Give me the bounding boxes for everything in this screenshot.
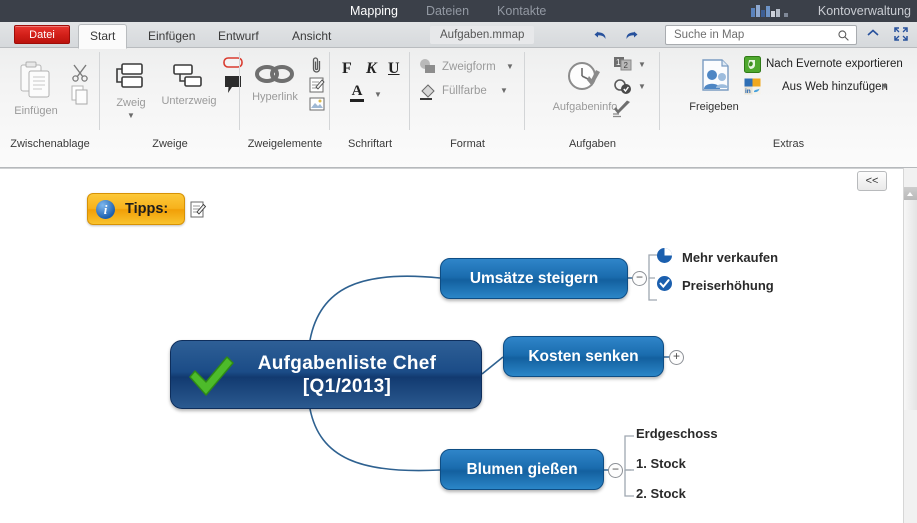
add-from-web-label[interactable]: Aus Web hinzufügen bbox=[782, 81, 888, 93]
toggle-blumen-glyph: − bbox=[612, 462, 619, 476]
progress-dropdown-icon[interactable]: ▼ bbox=[638, 82, 646, 91]
account-management-link[interactable]: Kontoverwaltung bbox=[818, 0, 911, 22]
search-input[interactable] bbox=[672, 28, 837, 42]
svg-text:in: in bbox=[745, 88, 751, 95]
subbranch-icon bbox=[170, 62, 208, 90]
share-icon bbox=[692, 58, 736, 96]
ribbon-group-branches: Zweig ▼ Unterzweig Zweige bbox=[100, 48, 240, 152]
subbranch-button[interactable]: Unterzweig bbox=[158, 62, 220, 107]
branch-dropdown-icon[interactable]: ▼ bbox=[127, 111, 135, 120]
group-label-branches: Zweige bbox=[100, 138, 240, 150]
scroll-up-button[interactable] bbox=[904, 187, 917, 200]
share-label: Freigeben bbox=[678, 101, 750, 113]
document-name[interactable]: Aufgaben.mmap bbox=[430, 26, 534, 44]
ribbon-body: Einfügen Zwischenablage bbox=[0, 48, 917, 152]
hyperlink-label: Hyperlink bbox=[242, 91, 308, 103]
task-info-icon bbox=[562, 58, 608, 96]
toggle-kosten[interactable]: + bbox=[669, 350, 684, 365]
copy-icon[interactable] bbox=[70, 84, 90, 111]
branch-node-blumen[interactable]: Blumen gießen bbox=[440, 449, 604, 490]
leaf-erdgeschoss[interactable]: Erdgeschoss bbox=[636, 426, 718, 441]
group-label-tasks: Aufgaben bbox=[525, 138, 660, 150]
task-complete-icon[interactable] bbox=[611, 100, 633, 123]
branch-node-kosten[interactable]: Kosten senken bbox=[503, 336, 664, 377]
priority-icon[interactable]: 12 bbox=[613, 56, 633, 77]
fullscreen-icon[interactable] bbox=[892, 25, 910, 43]
ribbon: Datei Start Einfügen Entwurf Ansicht Auf… bbox=[0, 22, 917, 168]
ribbon-tab-row: Datei Start Einfügen Entwurf Ansicht Auf… bbox=[0, 22, 917, 48]
evernote-icon[interactable] bbox=[744, 56, 761, 78]
fill-color-dropdown-icon[interactable]: ▼ bbox=[500, 86, 508, 95]
ribbon-group-format: Zweigform ▼ Füllfarbe ▼ Format bbox=[410, 48, 525, 152]
group-label-extras: Extras bbox=[660, 138, 917, 150]
branch-shape-dropdown-icon[interactable]: ▼ bbox=[506, 62, 514, 71]
font-color-dropdown-icon[interactable]: ▼ bbox=[374, 90, 382, 99]
branch-shape-label[interactable]: Zweigform bbox=[442, 61, 496, 73]
collapse-panel-button[interactable]: << bbox=[857, 171, 887, 191]
underline-button[interactable]: U bbox=[388, 60, 400, 78]
search-box[interactable] bbox=[665, 25, 857, 45]
tab-entwurf[interactable]: Entwurf bbox=[207, 24, 270, 48]
central-node-line2: [Q1/2013] bbox=[258, 375, 437, 398]
group-label-font: Schriftart bbox=[330, 138, 410, 150]
paste-label: Einfügen bbox=[8, 105, 64, 117]
redo-icon[interactable] bbox=[622, 27, 640, 43]
share-button[interactable]: Freigeben bbox=[678, 58, 750, 113]
font-color-letter: A bbox=[350, 84, 364, 98]
add-from-web-icon[interactable]: in bbox=[744, 78, 761, 100]
tab-datei[interactable]: Datei bbox=[14, 25, 70, 44]
export-evernote-label[interactable]: Nach Evernote exportieren bbox=[766, 58, 903, 70]
subbranch-label: Unterzweig bbox=[158, 95, 220, 107]
progress-icon[interactable] bbox=[613, 78, 633, 101]
font-color-button[interactable]: A bbox=[350, 84, 364, 102]
branch-icon bbox=[113, 60, 149, 92]
mindmap-canvas[interactable]: i Tipps: Aufgabenliste Chef [Q1/2013] Um… bbox=[0, 168, 903, 523]
paste-icon bbox=[17, 60, 55, 100]
undo-icon[interactable] bbox=[592, 27, 610, 43]
toggle-umsaetze[interactable]: − bbox=[632, 271, 647, 286]
search-icon bbox=[837, 29, 850, 42]
info-icon: i bbox=[96, 200, 115, 219]
central-node[interactable]: Aufgabenliste Chef [Q1/2013] bbox=[170, 340, 482, 409]
italic-button[interactable]: K bbox=[366, 60, 377, 78]
bold-button[interactable]: F bbox=[342, 60, 352, 78]
tab-einfuegen[interactable]: Einfügen bbox=[137, 24, 206, 48]
group-label-clipboard: Zwischenablage bbox=[0, 138, 100, 150]
branch-node-blumen-label: Blumen gießen bbox=[466, 461, 577, 479]
leaf-1-stock[interactable]: 1. Stock bbox=[636, 456, 686, 471]
svg-text:2: 2 bbox=[624, 61, 629, 70]
topnav-item-mapping[interactable]: Mapping bbox=[350, 0, 398, 22]
leaf-mehr-verkaufen[interactable]: Mehr verkaufen bbox=[682, 250, 778, 265]
branch-shape-icon bbox=[418, 58, 438, 81]
font-color-swatch bbox=[350, 99, 364, 102]
top-navigation-bar: Mapping Dateien Kontakte Kontoverwaltung bbox=[0, 0, 917, 22]
tips-note-icon[interactable] bbox=[190, 201, 207, 224]
ribbon-group-tasks: Aufgabeninfo 12 ▼ ▼ Aufgaben bbox=[525, 48, 660, 152]
collapse-ribbon-icon[interactable] bbox=[865, 26, 881, 42]
tips-label: Tipps: bbox=[125, 201, 168, 217]
green-check-icon bbox=[187, 355, 235, 397]
branch-node-kosten-label: Kosten senken bbox=[528, 348, 638, 366]
mindmanager-window: Mapping Dateien Kontakte Kontoverwaltung… bbox=[0, 0, 917, 523]
progress-quarter-icon[interactable] bbox=[656, 247, 673, 264]
ribbon-group-font: F K U A ▼ Schriftart bbox=[330, 48, 410, 152]
central-node-line1: Aufgabenliste Chef bbox=[258, 352, 437, 375]
tab-start[interactable]: Start bbox=[78, 24, 127, 49]
progress-complete-icon[interactable] bbox=[656, 275, 673, 292]
toggle-kosten-glyph: + bbox=[673, 349, 680, 363]
branch-label: Zweig bbox=[104, 97, 158, 109]
tab-ansicht[interactable]: Ansicht bbox=[281, 24, 342, 48]
canvas-scrollbar-vertical[interactable] bbox=[903, 168, 917, 523]
toggle-blumen[interactable]: − bbox=[608, 463, 623, 478]
top-nav-group: Mapping Dateien Kontakte bbox=[350, 0, 546, 22]
hyperlink-icon bbox=[254, 62, 296, 86]
topnav-item-kontakte[interactable]: Kontakte bbox=[497, 0, 546, 22]
paste-button[interactable]: Einfügen bbox=[8, 60, 64, 117]
svg-text:1: 1 bbox=[616, 58, 621, 67]
scrollbar-thumb[interactable] bbox=[904, 200, 917, 410]
image-icon[interactable] bbox=[308, 96, 326, 117]
hyperlink-button[interactable]: Hyperlink bbox=[242, 62, 308, 103]
add-from-web-dropdown-icon[interactable]: ▼ bbox=[881, 82, 889, 91]
ribbon-group-extras: Freigeben Nach Evernote exportieren in bbox=[660, 48, 917, 152]
ribbon-group-branch-elements: Hyperlink Zweigelemente bbox=[240, 48, 330, 152]
group-label-format: Format bbox=[410, 138, 525, 150]
ribbon-group-clipboard: Einfügen Zwischenablage bbox=[0, 48, 100, 152]
leaf-2-stock[interactable]: 2. Stock bbox=[636, 486, 686, 501]
priority-dropdown-icon[interactable]: ▼ bbox=[638, 60, 646, 69]
fill-color-label[interactable]: Füllfarbe bbox=[442, 85, 487, 97]
group-label-branch-elements: Zweigelemente bbox=[240, 138, 330, 150]
tips-callout[interactable]: i Tipps: bbox=[87, 193, 185, 225]
branch-node-umsaetze-label: Umsätze steigern bbox=[470, 270, 598, 288]
fill-color-icon bbox=[418, 82, 438, 107]
mindjet-logo bbox=[751, 4, 795, 17]
branch-node-umsaetze[interactable]: Umsätze steigern bbox=[440, 258, 628, 299]
topnav-item-dateien[interactable]: Dateien bbox=[426, 0, 469, 22]
central-node-text: Aufgabenliste Chef [Q1/2013] bbox=[258, 352, 437, 398]
toggle-umsaetze-glyph: − bbox=[636, 270, 643, 284]
leaf-preiserhoehung[interactable]: Preiserhöhung bbox=[682, 278, 774, 293]
branch-button[interactable]: Zweig bbox=[104, 60, 158, 109]
